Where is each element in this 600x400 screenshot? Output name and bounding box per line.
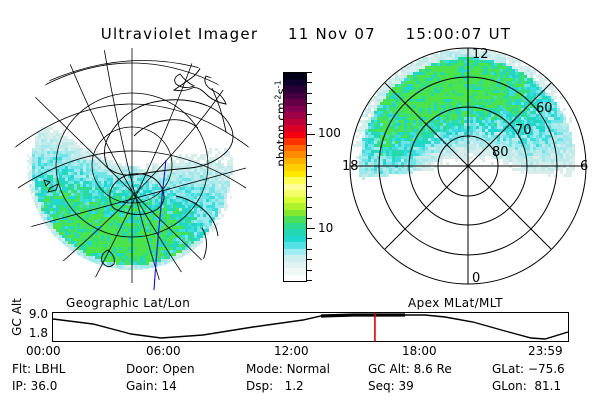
strip-xtick-2359: 23:59	[528, 344, 563, 358]
colorbar-tick	[307, 249, 312, 250]
strip-ytick-high: 9.0	[14, 307, 48, 321]
status-ip-label: IP:	[12, 379, 27, 393]
strip-xtick-0600: 06:00	[146, 344, 181, 358]
status-mode-value: Normal	[287, 362, 330, 376]
colorbar-tick	[307, 155, 312, 156]
mlt-label-12: 12	[472, 47, 489, 62]
status-door: Door: Open	[126, 362, 195, 376]
status-seq-label: Seq:	[368, 379, 395, 393]
colorbar-tick	[307, 176, 312, 177]
mlt-label-6: 6	[580, 159, 588, 174]
status-glon: GLon: 81.1	[492, 379, 561, 393]
colorbar-tick	[307, 197, 312, 198]
gc-altitude-strip-plot[interactable]: GC Alt 9.0 1.8 00:00 06:00 12:00 18:00 2…	[0, 296, 600, 358]
colorbar-tick	[307, 228, 315, 229]
colorbar-tick	[307, 72, 312, 73]
status-gcalt: GC Alt: 8.6 Re	[368, 362, 452, 376]
observation-time: 15:00:07 UT	[406, 25, 511, 43]
status-glat: GLat: −75.6	[492, 362, 565, 376]
colorbar-unit-exp2: -1	[274, 80, 283, 88]
mlat-label-80: 80	[492, 145, 509, 160]
mlt-label-0: 0	[472, 271, 480, 286]
colorbar-tick	[307, 145, 312, 146]
mlt-label-18: 18	[342, 159, 359, 174]
colorbar[interactable]: photon cm-2s-1 100 10	[258, 60, 338, 295]
colorbar-tick	[307, 238, 312, 239]
mlt-dial-panel[interactable]: 12 18 6 0 60 70 80	[340, 42, 596, 294]
status-gain-value: 14	[161, 379, 176, 393]
status-flt-label: Flt:	[12, 362, 31, 376]
status-glon-value: 81.1	[534, 379, 561, 393]
gc-altitude-trace-thick	[321, 315, 405, 316]
status-flt: Flt: LBHL	[12, 362, 65, 376]
colorbar-band	[284, 275, 306, 282]
status-dsp-value: 1.2	[285, 379, 304, 393]
colorbar-tick	[307, 186, 312, 187]
header-bar: Ultraviolet Imager 11 Nov 07 15:00:07 UT	[0, 7, 600, 43]
status-door-value: Open	[163, 362, 195, 376]
geographic-map-panel[interactable]	[8, 40, 256, 290]
colorbar-tick	[307, 207, 312, 208]
geographic-map-svg	[8, 40, 256, 290]
status-glat-value: −75.6	[528, 362, 565, 376]
status-seq-value: 39	[399, 379, 414, 393]
status-dsp: Dsp: 1.2	[246, 379, 304, 393]
mlat-label-70: 70	[515, 123, 532, 138]
observation-date: 11 Nov 07	[288, 25, 376, 43]
colorbar-tick	[307, 218, 312, 219]
colorbar-tick-label-10: 10	[318, 221, 333, 235]
colorbar-unit-exp1: -2	[274, 94, 283, 102]
colorbar-tick	[307, 259, 312, 260]
status-ip: IP: 36.0	[12, 379, 57, 393]
status-seq: Seq: 39	[368, 379, 414, 393]
strip-xtick-1800: 18:00	[402, 344, 437, 358]
status-bar: Flt: LBHL IP: 36.0 Door: Open Gain: 14 M…	[0, 362, 600, 400]
status-mode-label: Mode:	[246, 362, 283, 376]
mlt-spokes	[350, 48, 586, 284]
status-flt-value: LBHL	[35, 362, 66, 376]
strip-plot-frame	[52, 312, 569, 342]
colorbar-tick-label-100: 100	[318, 126, 341, 140]
colorbar-tick	[307, 280, 312, 281]
colorbar-gradient	[283, 72, 307, 282]
status-glat-label: GLat:	[492, 362, 524, 376]
status-gcalt-label: GC Alt:	[368, 362, 410, 376]
status-gain: Gain: 14	[126, 379, 177, 393]
colorbar-tick	[307, 114, 312, 115]
colorbar-tick	[307, 134, 315, 135]
mlt-dial-svg: 12 18 6 0 60 70 80	[340, 42, 596, 294]
strip-plot-svg	[53, 313, 568, 341]
colorbar-tick	[307, 82, 312, 83]
status-door-label: Door:	[126, 362, 159, 376]
mlat-label-60: 60	[536, 101, 553, 116]
status-ip-value: 36.0	[31, 379, 58, 393]
colorbar-tick-marks	[307, 72, 315, 282]
status-mode: Mode: Normal	[246, 362, 330, 376]
status-glon-label: GLon:	[492, 379, 527, 393]
colorbar-tick	[307, 124, 312, 125]
colorbar-tick	[307, 166, 312, 167]
status-gcalt-value: 8.6 Re	[414, 362, 452, 376]
strip-ytick-low: 1.8	[14, 326, 48, 340]
strip-xtick-1200: 12:00	[274, 344, 309, 358]
strip-xtick-0000: 00:00	[26, 344, 61, 358]
colorbar-tick	[307, 103, 312, 104]
colorbar-tick	[307, 93, 312, 94]
colorbar-tick	[307, 270, 312, 271]
status-gain-label: Gain:	[126, 379, 158, 393]
gc-altitude-trace	[53, 315, 568, 339]
status-dsp-label: Dsp:	[246, 379, 273, 393]
